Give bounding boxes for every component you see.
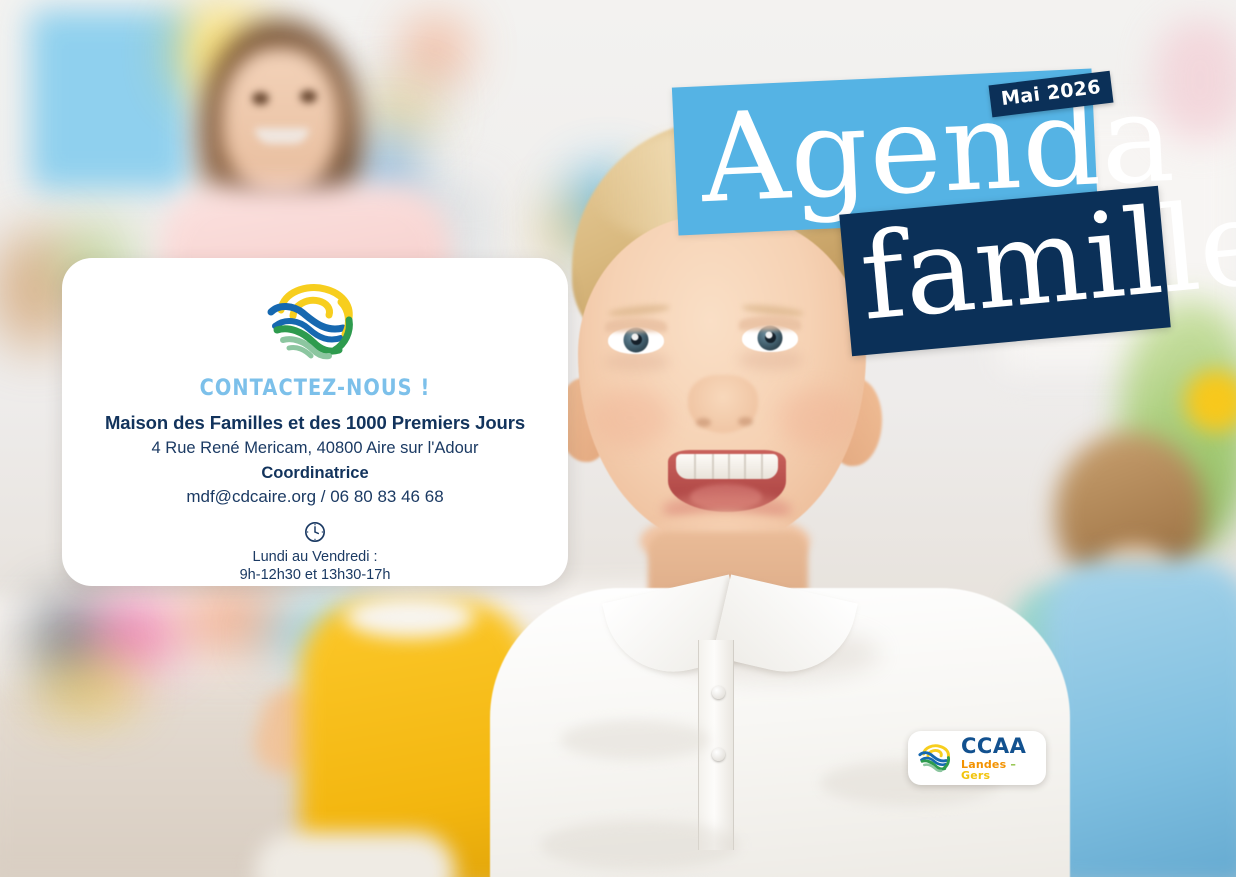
- toddler-undereye-left: [604, 352, 670, 372]
- toy-yellow-2: [80, 660, 135, 715]
- flyer-cover-page: Agenda famille Mai 2026 CONTACTEZ-NOUS !…: [0, 0, 1236, 877]
- organisation-address: 4 Rue René Mericam, 40800 Aire sur l'Ado…: [62, 439, 568, 458]
- child-yellow-pants: [255, 832, 455, 877]
- contact-details[interactable]: mdf@cdcaire.org / 06 80 83 46 68: [62, 487, 568, 507]
- wall-decor-orange: [405, 20, 465, 80]
- ccaa-logo-badge: CCAA Landes – Gers: [908, 731, 1046, 785]
- toddler-cheek-right: [778, 388, 856, 448]
- opening-hours-days: Lundi au Vendredi :: [62, 549, 568, 565]
- contact-heading: CONTACTEZ-NOUS !: [92, 376, 537, 401]
- adult-smile: [255, 128, 309, 144]
- toddler-eyelid-right: [739, 316, 801, 330]
- ccaa-name: CCAA: [961, 736, 1046, 757]
- ccaa-sub-gers: Gers: [961, 769, 990, 782]
- toddler-shirt-button-1: [712, 686, 725, 699]
- toddler-teeth: [676, 454, 778, 479]
- contact-card: CONTACTEZ-NOUS ! Maison des Familles et …: [62, 258, 568, 586]
- contact-role: Coordinatrice: [62, 464, 568, 483]
- ccaa-subtitle: Landes – Gers: [961, 759, 1046, 781]
- adult-eye-right: [300, 90, 317, 103]
- toddler-cheek-left: [592, 388, 670, 448]
- wall-poster-blue: [30, 10, 190, 190]
- organisation-name: Maison des Familles et des 1000 Premiers…: [62, 412, 568, 434]
- toddler-shirt-button-2: [712, 748, 725, 761]
- child-blue-shirt: [1045, 560, 1236, 877]
- toddler-undereye-right: [738, 350, 804, 370]
- child-yellow-collar: [345, 596, 475, 638]
- toddler-eye-glint-right: [766, 332, 773, 339]
- ccaa-wordmark: CCAA Landes – Gers: [961, 736, 1046, 781]
- toddler-shirt-fold-1: [560, 720, 710, 760]
- toddler-nostril-left: [696, 418, 711, 427]
- toddler-shirt-fold-3: [540, 820, 740, 870]
- ccaa-swirl-logo: [263, 280, 367, 362]
- title-banner-famille: famille: [839, 186, 1171, 356]
- adult-caregiver-face: [222, 48, 338, 194]
- opening-hours-times: 9h-12h30 et 13h30-17h: [62, 567, 568, 583]
- ccaa-swirl-icon: [917, 743, 955, 773]
- toddler-eye-glint-left: [632, 334, 639, 341]
- toddler-eyelid-left: [605, 318, 667, 332]
- adult-eye-left: [252, 92, 269, 105]
- clock-icon: [304, 521, 326, 543]
- toddler-nostril-right: [738, 417, 753, 426]
- ccaa-sub-dash: –: [1010, 758, 1016, 771]
